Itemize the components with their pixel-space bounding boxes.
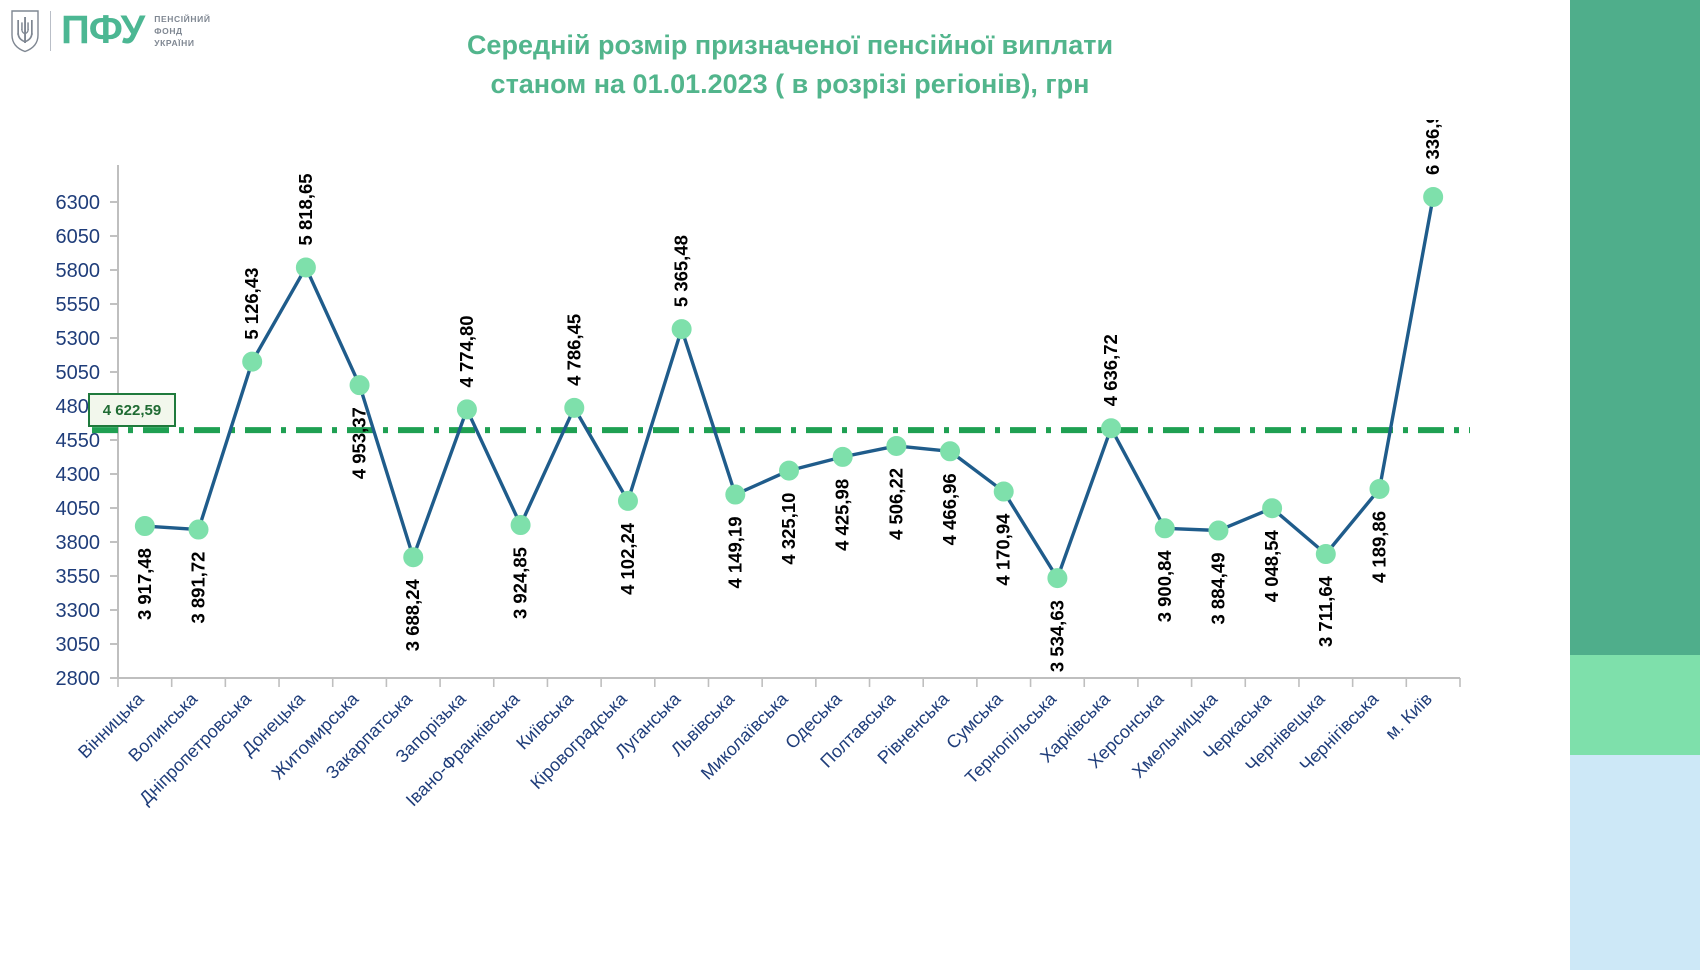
data-point-marker[interactable] xyxy=(1048,569,1067,588)
data-point-marker[interactable] xyxy=(1370,479,1389,498)
data-value-label: 4 048,54 xyxy=(1261,529,1282,602)
chart-plot-area: 6300605058005550530050504800455043004050… xyxy=(0,120,1470,970)
data-point-marker[interactable] xyxy=(243,352,262,371)
average-value-callout: 4 622,59 xyxy=(88,393,176,427)
data-value-label: 3 900,84 xyxy=(1154,550,1175,623)
data-value-label: 4 425,98 xyxy=(832,479,853,551)
data-value-label: 4 149,19 xyxy=(724,517,745,589)
data-value-label: 4 953,37 xyxy=(349,407,370,479)
data-point-marker[interactable] xyxy=(135,517,154,536)
data-value-label: 4 636,72 xyxy=(1100,334,1121,406)
y-axis-tick-label: 5050 xyxy=(56,362,101,384)
y-axis-tick-label: 2800 xyxy=(56,668,101,690)
data-value-label: 6 336,99 xyxy=(1422,120,1443,175)
chart-title: Середній розмір призначеної пенсійної ви… xyxy=(300,26,1280,104)
data-value-label: 3 884,49 xyxy=(1207,553,1228,625)
data-value-label: 4 466,96 xyxy=(939,473,960,545)
chart-page: ПФУ ПЕНСІЙНИЙ ФОНД УКРАЇНИ Середній розм… xyxy=(0,0,1700,970)
line-chart-svg: 6300605058005550530050504800455043004050… xyxy=(0,120,1470,970)
y-axis-tick-label: 4550 xyxy=(56,430,101,452)
data-value-label: 4 325,10 xyxy=(778,493,799,565)
decorative-color-bars xyxy=(1570,0,1700,970)
x-axis-category-label: м. Київ xyxy=(1381,689,1436,744)
pfu-logo: ПФУ ПЕНСІЙНИЙ ФОНД УКРАЇНИ xyxy=(0,0,215,62)
logo-subtitle: ПЕНСІЙНИЙ ФОНД УКРАЇНИ xyxy=(154,13,210,50)
data-point-marker[interactable] xyxy=(887,436,906,455)
x-axis-category-labels: ВінницькаВолинськаДніпропетровськаДонець… xyxy=(74,688,1436,810)
data-point-marker[interactable] xyxy=(780,461,799,480)
data-value-label: 3 688,24 xyxy=(402,578,423,651)
data-point-marker[interactable] xyxy=(457,400,476,419)
chart-title-line1: Середній розмір призначеної пенсійної ви… xyxy=(300,26,1280,65)
x-axis-tick-marks xyxy=(118,678,1460,687)
data-point-marker[interactable] xyxy=(833,447,852,466)
y-axis-tick-label: 3800 xyxy=(56,532,101,554)
logo-abbreviation: ПФУ xyxy=(61,10,144,50)
average-value-text: 4 622,59 xyxy=(103,402,161,419)
data-value-labels: 3 917,483 891,725 126,435 818,654 953,37… xyxy=(134,120,1443,672)
data-point-marker[interactable] xyxy=(726,485,745,504)
data-value-label: 4 774,80 xyxy=(456,315,477,387)
y-axis-tick-label: 4300 xyxy=(56,464,101,486)
data-point-marker[interactable] xyxy=(994,482,1013,501)
data-value-label: 5 818,65 xyxy=(295,173,316,245)
data-point-marker[interactable] xyxy=(511,516,530,535)
y-axis-tick-label: 5550 xyxy=(56,294,101,316)
data-value-label: 3 924,85 xyxy=(510,547,531,619)
data-point-marker[interactable] xyxy=(1209,521,1228,540)
y-axis-tick-label: 6050 xyxy=(56,226,101,248)
data-point-marker[interactable] xyxy=(618,491,637,510)
logo-divider xyxy=(50,11,51,51)
data-value-label: 4 189,86 xyxy=(1368,511,1389,583)
y-axis-tick-marks xyxy=(110,202,118,678)
data-point-marker[interactable] xyxy=(1424,187,1443,206)
chart-title-line2: станом на 01.01.2023 ( в розрізі регіоні… xyxy=(300,65,1280,104)
color-bar-green xyxy=(1570,0,1700,655)
data-point-marker[interactable] xyxy=(1263,499,1282,518)
data-value-label: 4 506,22 xyxy=(885,468,906,540)
logo-subtitle-line1: ПЕНСІЙНИЙ xyxy=(154,13,210,25)
y-axis-tick-label: 4050 xyxy=(56,498,101,520)
color-bar-mint xyxy=(1570,655,1700,755)
data-value-label: 3 534,63 xyxy=(1046,600,1067,672)
data-value-label: 5 365,48 xyxy=(671,235,692,307)
x-axis-category-label: Кіровоградська xyxy=(526,688,631,793)
y-axis-tick-label: 3300 xyxy=(56,600,101,622)
y-axis-tick-label: 3050 xyxy=(56,634,101,656)
logo-subtitle-line3: УКРАЇНИ xyxy=(154,37,210,49)
logo-subtitle-line2: ФОНД xyxy=(154,25,210,37)
data-point-marker[interactable] xyxy=(565,398,584,417)
y-axis-tick-label: 6300 xyxy=(56,192,101,214)
data-point-marker[interactable] xyxy=(404,548,423,567)
data-point-marker[interactable] xyxy=(1155,519,1174,538)
data-point-marker[interactable] xyxy=(189,520,208,539)
y-axis-tick-label: 3550 xyxy=(56,566,101,588)
data-value-label: 3 711,64 xyxy=(1315,575,1336,647)
chart-axes xyxy=(118,165,1460,678)
color-bar-blue xyxy=(1570,755,1700,970)
data-point-marker[interactable] xyxy=(941,442,960,461)
y-axis-tick-labels: 6300605058005550530050504800455043004050… xyxy=(56,192,101,690)
data-point-marker[interactable] xyxy=(1102,419,1121,438)
y-axis-tick-label: 5300 xyxy=(56,328,101,350)
data-value-label: 4 102,24 xyxy=(617,522,638,595)
y-axis-tick-label: 5800 xyxy=(56,260,101,282)
data-value-label: 4 170,94 xyxy=(993,513,1014,586)
data-value-label: 5 126,43 xyxy=(241,268,262,340)
data-point-marker[interactable] xyxy=(672,320,691,339)
data-point-marker[interactable] xyxy=(350,376,369,395)
x-axis-category-label: Тернопільська xyxy=(961,688,1061,788)
data-point-marker[interactable] xyxy=(296,258,315,277)
data-value-label: 4 786,45 xyxy=(563,314,584,386)
data-point-marker[interactable] xyxy=(1316,545,1335,564)
data-value-label: 3 891,72 xyxy=(188,552,209,624)
ukraine-trident-icon xyxy=(10,9,40,53)
data-value-label: 3 917,48 xyxy=(134,548,155,620)
